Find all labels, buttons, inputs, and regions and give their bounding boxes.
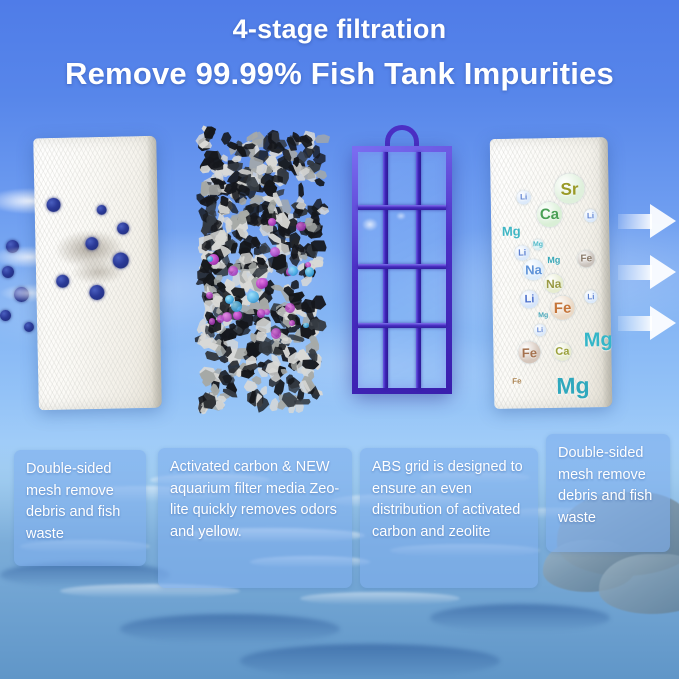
caption-box-4: Double-sided mesh remove debris and fish… (546, 434, 670, 552)
caption-box-2: Activated carbon & NEW aquarium filter m… (158, 448, 352, 588)
mineral-speck-blue (288, 266, 299, 277)
mineral-speck-magenta (268, 218, 276, 226)
grid-sparkle (362, 218, 378, 231)
mineral-speck-magenta (270, 247, 280, 257)
mineral-speck-magenta (228, 266, 237, 275)
mineral-speck-blue (231, 301, 243, 313)
arrow-shaft (618, 316, 652, 331)
grid-bar-horizontal (358, 205, 446, 210)
infographic-poster: 4-stage filtration Remove 99.99% Fish Ta… (0, 0, 679, 679)
grid-frame (352, 146, 452, 394)
outflow-arrow-1 (618, 204, 678, 239)
mineral-bubble-na: Na (523, 259, 544, 280)
mineral-bubble-mg: Mg (538, 310, 549, 321)
carbon-granule (297, 182, 305, 198)
mineral-bubble-li: Li (584, 290, 597, 303)
mineral-bubble-mg: Mg (556, 368, 591, 403)
arrow-head-icon (650, 255, 676, 289)
caption-text: ABS grid is designed to ensure an even d… (372, 457, 527, 543)
carbon-granule (306, 159, 314, 166)
arrow-head-icon (650, 204, 676, 238)
grid-bar-horizontal (358, 264, 446, 269)
arrow-shaft (618, 214, 652, 229)
mineral-bubble-layer: LiSrCaLiMgMgLiMgFeNaNaLiFeLiMgLiMgFeCaMg… (490, 137, 613, 409)
grid-bar-horizontal (358, 323, 446, 328)
mineral-bubble-mg: Mg (532, 239, 543, 250)
mineral-bubble-li: Li (515, 245, 530, 260)
mineral-bubble-mg: Mg (501, 221, 521, 241)
grid-sparkle (396, 212, 406, 220)
outflow-arrow-2 (618, 255, 678, 290)
arrow-head-icon (650, 306, 676, 340)
stage-2-carbon-zeolite-media (196, 127, 328, 415)
mineral-bubble-fe: Fe (518, 341, 540, 363)
mineral-bubble-ca: Ca (553, 343, 571, 361)
mineral-bubble-na: Na (544, 274, 563, 293)
mineral-bubble-li: Li (534, 324, 546, 336)
grid-bar-vertical (383, 152, 388, 388)
caption-text: Activated carbon & NEW aquarium filter m… (170, 457, 341, 543)
mineral-bubble-fe: Fe (510, 374, 524, 388)
stage-1-mesh-pad (33, 136, 162, 411)
caption-box-1: Double-sided mesh remove debris and fish… (14, 450, 146, 566)
mineral-speck-magenta (285, 303, 295, 313)
caption-box-3: ABS grid is designed to ensure an even d… (360, 448, 538, 588)
caption-text: Double-sided mesh remove debris and fish… (26, 459, 135, 545)
carbon-granule (310, 240, 326, 253)
grid-handle (385, 125, 419, 147)
stage-3-abs-grid (352, 146, 452, 394)
caption-text: Double-sided mesh remove debris and fish… (558, 443, 659, 529)
zeolite-granule (315, 135, 330, 144)
mineral-speck-magenta (257, 309, 266, 318)
mineral-bubble-mg: Mg (547, 253, 561, 267)
outflow-arrow-3 (618, 306, 678, 341)
mineral-bubble-sr: Sr (554, 173, 585, 204)
mineral-bubble-li: Li (584, 209, 597, 222)
mineral-speck-magenta (209, 318, 216, 325)
granule-field (196, 127, 328, 415)
mineral-bubble-fe: Fe (578, 250, 595, 267)
mineral-speck-blue (247, 291, 259, 303)
zeolite-granule (269, 398, 278, 412)
mineral-speck-blue (305, 267, 314, 276)
headline-primary: 4-stage filtration (0, 14, 679, 45)
mineral-bubble-mg: Mg (583, 325, 614, 356)
stage-4-mesh-pad-minerals: LiSrCaLiMgMgLiMgFeNaNaLiFeLiMgLiMgFeCaMg… (490, 137, 613, 409)
mineral-bubble-li: Li (520, 290, 538, 308)
headline-block: 4-stage filtration Remove 99.99% Fish Ta… (0, 14, 679, 92)
mineral-bubble-li: Li (517, 190, 531, 204)
arrow-shaft (618, 265, 652, 280)
mineral-bubble-fe: Fe (550, 296, 574, 320)
mineral-bubble-ca: Ca (537, 202, 562, 227)
grid-bar-vertical (416, 152, 421, 388)
headline-secondary: Remove 99.99% Fish Tank Impurities (0, 56, 679, 92)
